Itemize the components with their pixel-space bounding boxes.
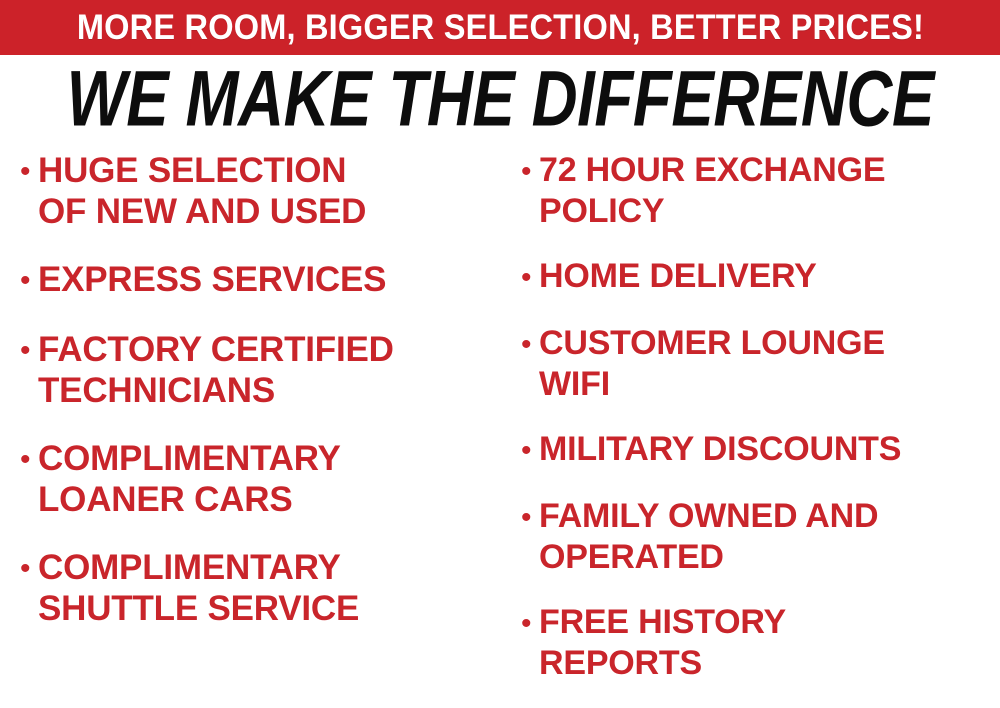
feature-free-history-reports: FREE HISTORY REPORTS bbox=[539, 602, 1000, 684]
list-item: • FREE HISTORY REPORTS bbox=[515, 602, 1000, 684]
bullet-dot-icon: • bbox=[14, 547, 38, 590]
feature-72-hour-exchange-policy: 72 HOUR EXCHANGE POLICY bbox=[539, 150, 1000, 232]
bullet-dot-icon: • bbox=[515, 429, 539, 472]
list-item: • HOME DELIVERY bbox=[515, 256, 1000, 299]
bullet-dot-icon: • bbox=[14, 438, 38, 481]
bullet-dot-icon: • bbox=[515, 602, 539, 645]
bullet-dot-icon: • bbox=[14, 259, 38, 302]
list-item: • CUSTOMER LOUNGE WIFI bbox=[515, 323, 1000, 405]
bullet-dot-icon: • bbox=[14, 329, 38, 372]
bullet-dot-icon: • bbox=[515, 496, 539, 539]
feature-complimentary-loaner-cars: COMPLIMENTARY LOANER CARS bbox=[38, 438, 504, 520]
feature-express-services: EXPRESS SERVICES bbox=[38, 259, 504, 300]
list-item: • 72 HOUR EXCHANGE POLICY bbox=[515, 150, 1000, 232]
promo-banner: MORE ROOM, BIGGER SELECTION, BETTER PRIC… bbox=[0, 0, 1000, 55]
list-item: • COMPLIMENTARY SHUTTLE SERVICE bbox=[14, 547, 504, 629]
features-column-right: • 72 HOUR EXCHANGE POLICY • HOME DELIVER… bbox=[515, 150, 1000, 708]
list-item: • HUGE SELECTION OF NEW AND USED bbox=[14, 150, 504, 232]
feature-family-owned-and-operated: FAMILY OWNED AND OPERATED bbox=[539, 496, 1000, 578]
list-item: • FAMILY OWNED AND OPERATED bbox=[515, 496, 1000, 578]
feature-customer-lounge-wifi: CUSTOMER LOUNGE WIFI bbox=[539, 323, 1000, 405]
list-item: • COMPLIMENTARY LOANER CARS bbox=[14, 438, 504, 520]
bullet-dot-icon: • bbox=[515, 323, 539, 366]
list-item: • EXPRESS SERVICES bbox=[14, 259, 504, 302]
bullet-dot-icon: • bbox=[515, 256, 539, 299]
headline-container: WE MAKE THE DIFFERENCE bbox=[0, 58, 1000, 140]
promo-banner-text: MORE ROOM, BIGGER SELECTION, BETTER PRIC… bbox=[76, 10, 923, 45]
bullet-dot-icon: • bbox=[14, 150, 38, 193]
feature-military-discounts: MILITARY DISCOUNTS bbox=[539, 429, 1000, 470]
advertisement-banner: MORE ROOM, BIGGER SELECTION, BETTER PRIC… bbox=[0, 0, 1000, 694]
feature-factory-certified-technicians: FACTORY CERTIFIED TECHNICIANS bbox=[38, 329, 504, 411]
page-title: WE MAKE THE DIFFERENCE bbox=[66, 60, 933, 138]
feature-home-delivery: HOME DELIVERY bbox=[539, 256, 1000, 297]
features-column-left: • HUGE SELECTION OF NEW AND USED • EXPRE… bbox=[14, 150, 504, 656]
bullet-dot-icon: • bbox=[515, 150, 539, 193]
feature-complimentary-shuttle-service: COMPLIMENTARY SHUTTLE SERVICE bbox=[38, 547, 504, 629]
list-item: • FACTORY CERTIFIED TECHNICIANS bbox=[14, 329, 504, 411]
list-item: • MILITARY DISCOUNTS bbox=[515, 429, 1000, 472]
feature-huge-selection: HUGE SELECTION OF NEW AND USED bbox=[38, 150, 504, 232]
features-columns: • HUGE SELECTION OF NEW AND USED • EXPRE… bbox=[0, 150, 1000, 694]
